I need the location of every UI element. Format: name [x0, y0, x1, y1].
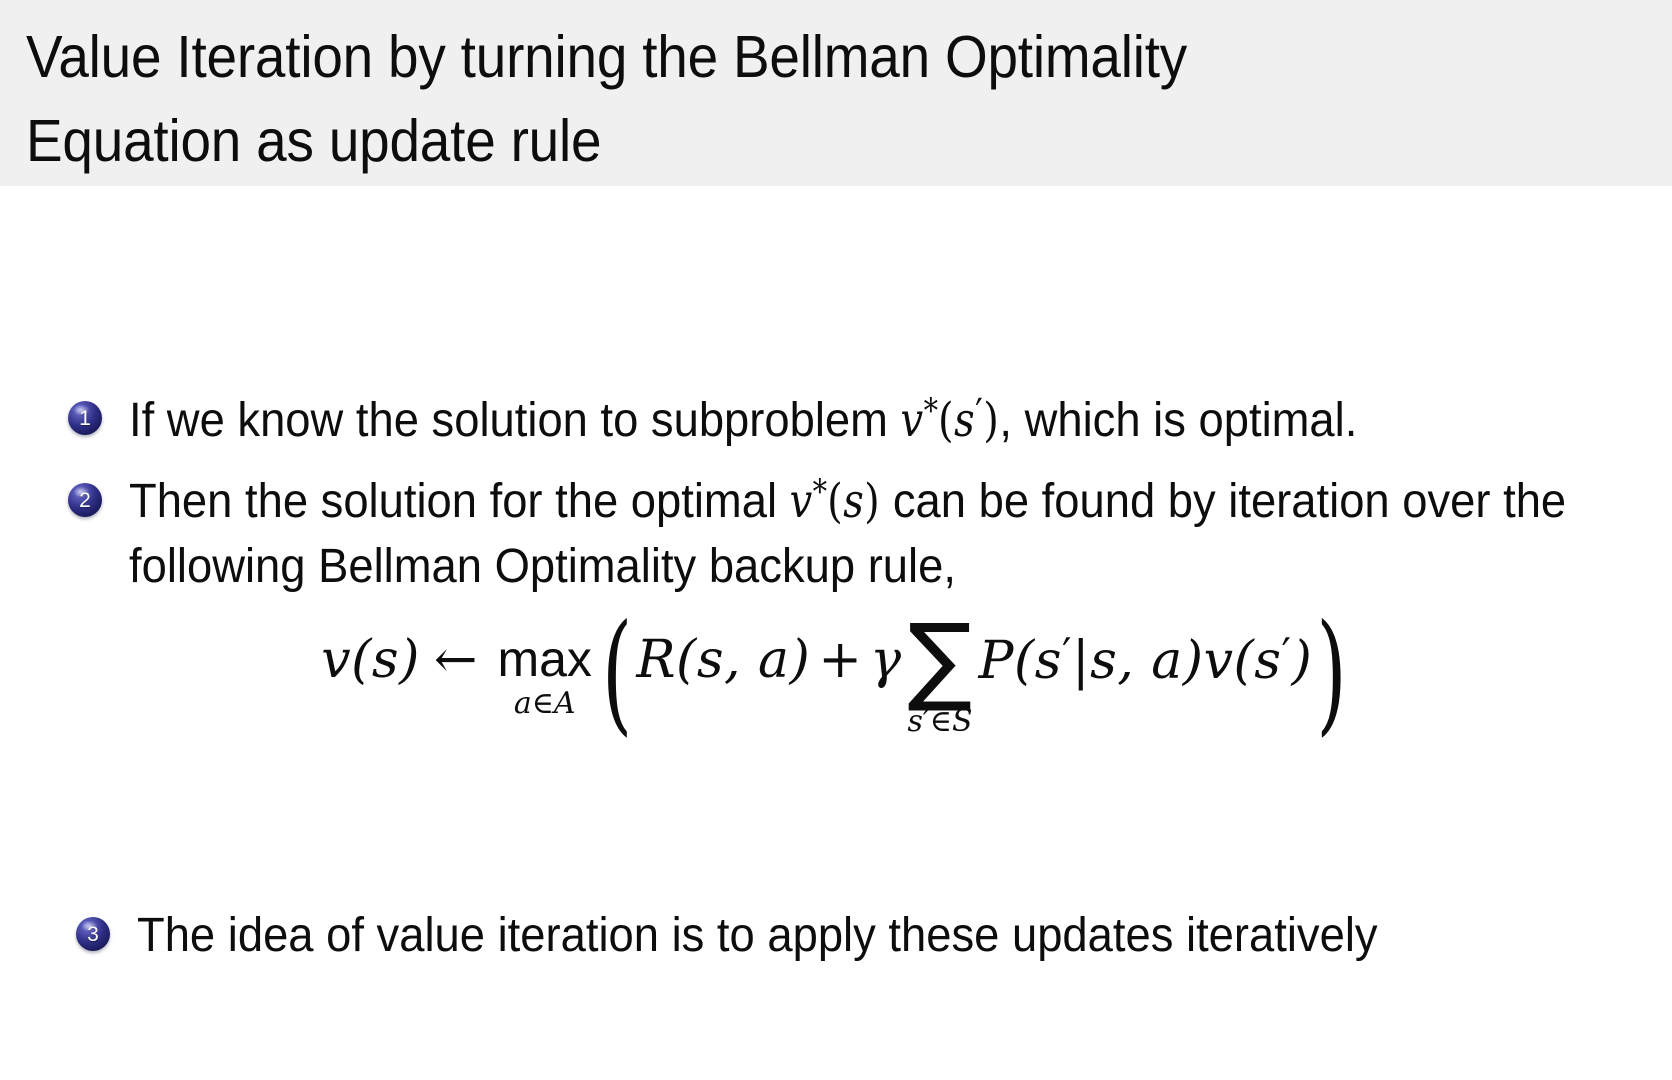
math-superscript-star: *	[813, 472, 827, 512]
transition-open: P(	[979, 631, 1035, 691]
sum-sub-element-of-icon: ∈	[930, 704, 952, 739]
list-item: 2 Then the solution for the optimal v*(s…	[68, 469, 1658, 600]
bullet-number-label: 3	[87, 924, 99, 945]
bullet-1-text-before-math: If we know the solution to subproblem	[129, 394, 901, 447]
math-open-paren: (	[827, 474, 843, 529]
list-item-text: Then the solution for the optimal v*(s) …	[129, 469, 1574, 600]
equation-open-paren: (	[598, 623, 636, 725]
math-v-star-s-prime: v*(s′)	[901, 393, 1000, 448]
list-item: 1 If we know the solution to subproblem …	[68, 387, 1658, 453]
equation-sum-subscript: s′∈S	[908, 707, 973, 737]
bullet-1-text-after-math: , which is optimal.	[999, 394, 1357, 447]
bullet-2-text-before-math: Then the solution for the optimal	[129, 475, 790, 528]
equation-inner: v(s) ← max a∈A ( R(s, a) + γ ∑ s′∈S P(s′…	[321, 618, 1351, 735]
bullet-number-ball-icon: 1	[68, 401, 102, 435]
bullet-number-ball-icon: 2	[68, 483, 102, 517]
equation-discount-gamma: γ	[870, 634, 902, 686]
math-close-paren: )	[864, 474, 880, 529]
math-argument-s: s	[843, 474, 864, 529]
bullet-number-ball-icon: 3	[76, 917, 110, 951]
math-argument-s: s	[954, 393, 975, 448]
max-sub-action-set: A	[554, 686, 576, 721]
value-fn-open: v(	[1204, 631, 1255, 691]
math-v-star-s: v*(s)	[790, 474, 881, 529]
equation-lhs: v(s)	[321, 634, 420, 686]
bullet-3-text: The idea of value iteration is to apply …	[137, 909, 1378, 962]
value-fn-arg: s	[1254, 631, 1281, 691]
equation-close-paren: )	[1312, 623, 1350, 725]
equation-assign-arrow: ←	[420, 634, 492, 686]
list-item-text: The idea of value iteration is to apply …	[137, 903, 1378, 968]
equation-max-operator: max a∈A	[491, 634, 597, 719]
transition-prime: ′	[1062, 629, 1072, 678]
transition-conditional-bar: |	[1072, 631, 1090, 691]
equation-reward-term: R(s, a)	[636, 634, 810, 686]
equation-max-subscript: a∈A	[514, 689, 576, 719]
value-fn-prime: ′	[1281, 629, 1291, 678]
math-symbol-v: v	[790, 474, 813, 529]
max-sub-element-of-icon: ∈	[532, 686, 554, 721]
bellman-optimality-backup-equation: v(s) ← max a∈A ( R(s, a) + γ ∑ s′∈S P(s′…	[0, 618, 1672, 735]
slide-content-area: 1 If we know the solution to subproblem …	[0, 186, 1672, 1080]
math-symbol-v: v	[901, 393, 924, 448]
math-open-paren: (	[938, 393, 954, 448]
sum-sub-variable: s	[908, 704, 923, 739]
equation-summation-operator: ∑ s′∈S	[902, 620, 979, 737]
list-item-text: If we know the solution to subproblem v*…	[129, 387, 1357, 453]
sigma-icon: ∑	[908, 620, 973, 699]
math-close-paren: )	[983, 393, 999, 448]
page-title: Value Iteration by turning the Bellman O…	[26, 16, 1557, 184]
list-item: 3 The idea of value iteration is to appl…	[76, 903, 1666, 968]
bullet-number-label: 1	[79, 408, 91, 429]
sum-sub-state-set: S	[952, 704, 973, 739]
math-superscript-star: *	[924, 391, 938, 431]
slide-title-bar: Value Iteration by turning the Bellman O…	[0, 0, 1672, 186]
sum-sub-prime: ′	[923, 704, 930, 739]
transition-next-state: s	[1035, 631, 1062, 691]
bullet-number-label: 2	[79, 490, 91, 511]
equation-value-function: v(s′)	[1204, 633, 1313, 687]
transition-rest: s, a)	[1090, 631, 1204, 691]
equation-plus-operator: +	[810, 634, 870, 686]
equation-transition-prob: P(s′|s, a)	[979, 633, 1204, 687]
value-fn-close: )	[1292, 631, 1313, 691]
max-sub-variable: a	[514, 686, 532, 721]
math-prime: ′	[975, 391, 983, 437]
equation-max-label: max	[497, 634, 591, 684]
